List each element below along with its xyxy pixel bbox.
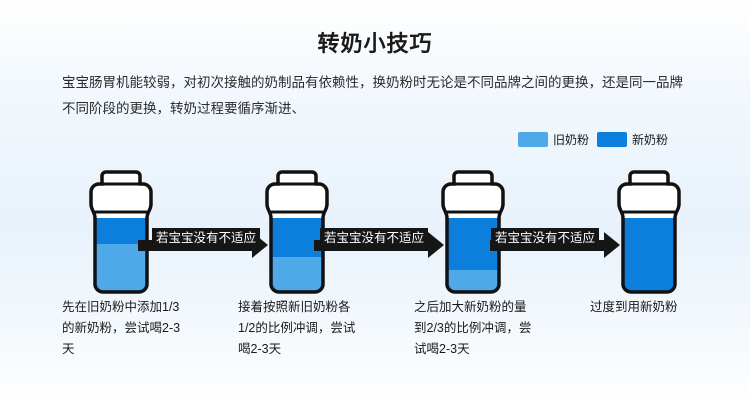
bottle-step-4 <box>610 168 688 296</box>
caption-step-4: 过度到用新奶粉 <box>590 297 710 318</box>
legend-item-new: 新奶粉 <box>597 131 668 148</box>
arrow-label-1: 若宝宝没有不适应 <box>152 228 260 249</box>
infographic-page: 转奶小技巧 宝宝肠胃机能较弱，对初次接触的奶制品有依赖性，换奶粉时无论是不同品牌… <box>0 0 750 407</box>
legend-label-new: 新奶粉 <box>632 131 668 148</box>
caption-step-1: 先在旧奶粉中添加1/3的新奶粉，尝试喝2-3天 <box>62 297 182 360</box>
legend-label-old: 旧奶粉 <box>553 131 589 148</box>
legend-item-old: 旧奶粉 <box>518 131 589 148</box>
arrow-head-2 <box>428 232 444 258</box>
legend-swatch-new-icon <box>597 132 627 147</box>
arrow-label-3: 若宝宝没有不适应 <box>491 228 599 249</box>
intro-paragraph: 宝宝肠胃机能较弱，对初次接触的奶制品有依赖性，换奶粉时无论是不同品牌之间的更换，… <box>62 70 692 122</box>
page-title: 转奶小技巧 <box>0 26 750 58</box>
arrow-label-2: 若宝宝没有不适应 <box>320 228 428 249</box>
bottle-graphic-4 <box>610 168 688 296</box>
caption-step-2: 接着按照新旧奶粉各1/2的比例冲调，尝试喝2-3天 <box>238 297 358 360</box>
arrow-head-3 <box>604 232 620 258</box>
legend-swatch-old-icon <box>518 132 548 147</box>
caption-step-3: 之后加大新奶粉的量到2/3的比例冲调，尝试喝2-3天 <box>414 297 534 360</box>
legend: 旧奶粉 新奶粉 <box>518 131 668 148</box>
